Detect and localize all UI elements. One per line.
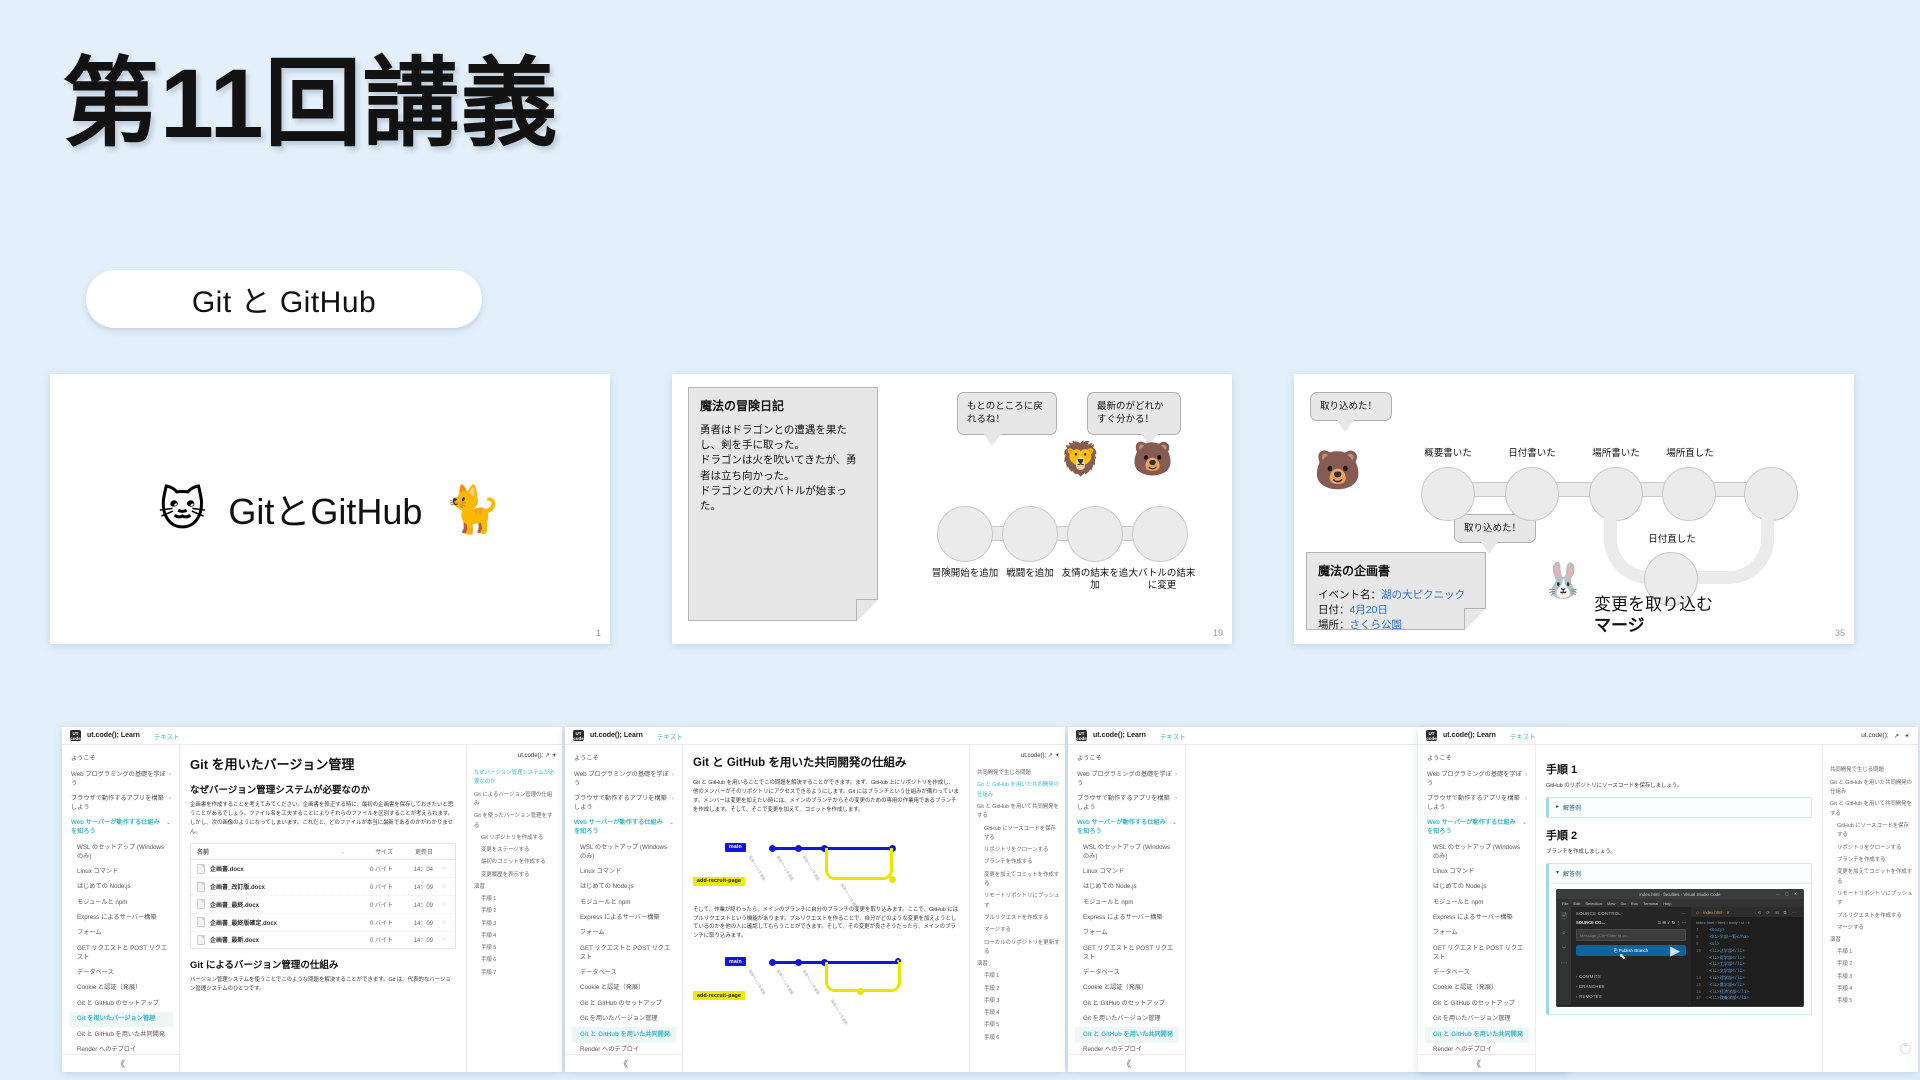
toc-item-16[interactable]: 手順 5: [977, 1020, 1060, 1032]
toc-item-13[interactable]: 手順 3: [1830, 971, 1913, 983]
breadcrumb[interactable]: index.html › html › body › ul › li: [1691, 917, 1803, 927]
chevron-down-icon[interactable]: ⌄: [1172, 819, 1177, 837]
note-title: 魔法の冒険日記: [700, 397, 866, 414]
sidebar-item-13[interactable]: Git と GitHub のセットアップ: [1425, 997, 1529, 1012]
collapse-sidebar-button[interactable]: 《: [62, 1054, 179, 1070]
lion-icon: 🦁: [1060, 442, 1101, 475]
cell-date: 14：09: [399, 918, 433, 927]
brand-name[interactable]: ut.code(); Learn: [87, 732, 140, 739]
theme-toggle-icon[interactable]: ☀: [1055, 753, 1060, 759]
menu-item-terminal[interactable]: Terminal: [1643, 901, 1658, 906]
sidebar-item-9[interactable]: フォーム: [1075, 926, 1179, 941]
sidebar-item-12[interactable]: Cookie と認証（発展）: [1425, 981, 1529, 996]
sidebar-item-label: Cookie と認証（発展）: [580, 984, 644, 993]
table-row[interactable]: 企画書_最終.docx0 バイト14：09☆: [191, 896, 455, 914]
code-line-5: <li>工学部</li>: [1696, 962, 1798, 969]
sidebar-item-9[interactable]: フォーム: [1425, 926, 1529, 941]
line-number: 14: [1696, 976, 1707, 983]
sidebar-item-label: Linux コマンド: [580, 868, 621, 877]
sidebar-item-6[interactable]: はじめての Node.js: [1075, 880, 1179, 895]
column-header-size[interactable]: サイズ: [351, 847, 393, 856]
sidebar-item-1[interactable]: Web プログラミングの基礎を学ぼう›: [1075, 767, 1179, 791]
search-icon[interactable]: ⌕: [1562, 930, 1566, 938]
sidebar-item-label: Git と GitHub を用いた共同開発: [77, 1031, 165, 1040]
commit-node-4: [1132, 506, 1188, 562]
sidebar-item-label: ブラウザで動作するアプリを構築しよう: [71, 795, 166, 813]
sidebar-item-6[interactable]: はじめての Node.js: [1425, 880, 1529, 895]
toc-item-2[interactable]: Git と GitHub を用いて共同開発をする: [1830, 799, 1913, 821]
toc-item-1[interactable]: Git と GitHub を用いた共同開発の仕組み: [1830, 777, 1913, 799]
page-title: 第11回講義: [62, 52, 559, 157]
paragraph: バージョン管理システムを使うことでこのような問題を解決することができます。Git…: [190, 976, 456, 994]
table-row[interactable]: 企画書_最終版確定.docx0 バイト14：09☆: [191, 914, 455, 932]
commit-node-2: [1505, 467, 1559, 521]
sidebar-item-8[interactable]: Express によるサーバー構築: [572, 911, 676, 926]
sidebar-item-5[interactable]: Linux コマンド: [1425, 865, 1529, 880]
code-line-0: 7 <body>: [1696, 928, 1798, 935]
sidebar-item-label: モジュールと npm: [1433, 899, 1483, 908]
vscode-screenshot: index.html - faculties - Visual Studio C…: [1556, 889, 1804, 1007]
sidebar-nav[interactable]: ようこそWeb プログラミングの基礎を学ぼう›ブラウザで動作するアプリを構築しよ…: [565, 745, 683, 1072]
toc-item-8[interactable]: 手順 1: [474, 894, 557, 906]
menu-item-file[interactable]: File: [1562, 901, 1568, 906]
slide1-content: 🐱 GitとGitHub 🐈: [50, 374, 610, 644]
toc-item-7[interactable]: リモートリポジトリにプッシュす: [1830, 888, 1913, 910]
activity-bar[interactable]: 🗎 ⌕ ⑂ ⋯: [1557, 907, 1571, 1005]
more-icon[interactable]: ⋯: [1681, 911, 1686, 916]
toc-item-12[interactable]: 手順 1: [977, 971, 1060, 983]
toc-item-1[interactable]: Git によるバージョン管理の仕組み: [474, 789, 557, 811]
toc-item-14[interactable]: 手順 3: [977, 996, 1060, 1008]
cat-tabby-icon: 🐱: [158, 486, 206, 532]
toc-item-2[interactable]: Git を使ったバージョン管理をする: [474, 811, 557, 833]
sidebar-item-3[interactable]: Web サーバーが動作する仕組みを知ろう⌄: [572, 816, 676, 840]
sidebar-item-4[interactable]: WSL のセットアップ (Windows のみ): [69, 840, 173, 864]
slide1-title: GitとGitHub: [228, 483, 422, 535]
code-line-3: 10 <li>法学部</li>: [1696, 949, 1798, 956]
toc-item-10[interactable]: ローカルのリポジトリを更新する: [977, 937, 1060, 959]
brand-label: ut.code();: [518, 753, 543, 759]
collapse-sidebar-button[interactable]: 《: [1068, 1054, 1185, 1070]
sidebar-item-10[interactable]: GET リクエストと POST リクエスト: [572, 942, 676, 966]
chevron-down-icon[interactable]: ⌄: [669, 819, 674, 837]
note-field-value: さくら公園: [1350, 619, 1403, 631]
sidebar-item-4[interactable]: WSL のセットアップ (Windows のみ): [572, 840, 676, 864]
utcode-logo-icon: UT code: [1076, 730, 1087, 741]
sidebar-item-label: モジュールと npm: [1083, 899, 1133, 908]
table-row[interactable]: 企画書_改訂版.docx0 バイト14：09☆: [191, 878, 455, 896]
chevron-right-icon[interactable]: ›: [169, 795, 171, 813]
toc-item-5[interactable]: ブランチを作成する: [1830, 855, 1913, 867]
collapse-sidebar-button[interactable]: 《: [565, 1054, 682, 1070]
toc-item-0[interactable]: なぜバージョン管理システムが必要なのか: [474, 768, 557, 790]
toc-item-17[interactable]: 手順 6: [977, 1032, 1060, 1044]
sidebar-item-14[interactable]: Git を用いたバージョン管理: [69, 1012, 173, 1027]
commit-dot: [769, 845, 776, 852]
sidebar-item-1[interactable]: Web プログラミングの基礎を学ぼう›: [1425, 767, 1529, 791]
sidebar-item-10[interactable]: GET リクエストと POST リクエスト: [69, 942, 173, 966]
sidebar-item-10[interactable]: GET リクエストと POST リクエスト: [1425, 942, 1529, 966]
toc-item-1[interactable]: Git と GitHub を用いた共同開発の仕組み: [977, 780, 1060, 802]
external-link-icon[interactable]: ↗: [1048, 753, 1053, 759]
paragraph: Git と GitHub を用いることでこの問題を解決することができます。まず、…: [693, 779, 959, 815]
main-content: Git を用いたバージョン管理 なぜバージョン管理システムが必要なのか 企画書を…: [180, 745, 466, 1072]
close-icon[interactable]: ✕: [1726, 910, 1730, 915]
sidebar-item-8[interactable]: Express によるサーバー構築: [1075, 911, 1179, 926]
toc-item-14[interactable]: 手順 7: [474, 967, 557, 979]
menu-item-selection[interactable]: Selection: [1585, 901, 1601, 906]
sidebar-item-12[interactable]: Cookie と認証（発展）: [69, 981, 173, 996]
menu-item-run[interactable]: Run: [1631, 901, 1638, 906]
sidebar-item-12[interactable]: Cookie と認証（発展）: [572, 981, 676, 996]
cell-name: 企画書_最終.docx: [197, 899, 345, 909]
scm-tree[interactable]: › COMMITS› BRANCHES› REMOTES: [1576, 972, 1686, 1001]
toc-item-0[interactable]: 共同開発で生じる問題: [1830, 765, 1913, 777]
menu-item-view[interactable]: View: [1607, 901, 1616, 906]
commit-annotation: 採用ページを追加: [775, 855, 794, 882]
scm-tree-item-remotes[interactable]: › REMOTES: [1576, 992, 1686, 1002]
note-field-value: 湖の大ピクニック: [1381, 589, 1465, 601]
toc-item-13[interactable]: 手順 2: [977, 983, 1060, 995]
sidebar-item-label: Git と GitHub を用いた共同開発: [580, 1031, 670, 1040]
toc-item-7[interactable]: リモートリポジトリにプッシュす: [977, 891, 1060, 913]
speech-bubble-lion: もとのところに戻れるね！: [957, 392, 1057, 435]
step2-text: ブランチを作成しましょう。: [1546, 848, 1812, 857]
line-number: 7: [1696, 928, 1707, 935]
sidebar-nav[interactable]: ようこそWeb プログラミングの基礎を学ぼう›ブラウザで動作するアプリを構築しよ…: [62, 745, 180, 1072]
bear-icon: 🐻: [1314, 452, 1361, 490]
sidebar-item-label: Web プログラミングの基礎を学ぼう: [71, 771, 166, 789]
sidebar-item-11[interactable]: データベース: [1425, 966, 1529, 981]
sidebar-item-6[interactable]: はじめての Node.js: [69, 880, 173, 895]
sidebar-item-9[interactable]: フォーム: [572, 926, 676, 941]
step1-text: GitHub のリポジトリにソースコードを保存しましょう。: [1546, 782, 1812, 791]
sidebar-item-11[interactable]: データベース: [69, 966, 173, 981]
sidebar-item-label: GET リクエストと POST リクエスト: [580, 945, 674, 963]
code-text: <li>文学部</li>: [1707, 970, 1745, 974]
accordion-header[interactable]: ▸ 解答例: [1549, 798, 1811, 817]
nav-link-text[interactable]: テキスト: [1160, 731, 1186, 741]
sidebar-item-11[interactable]: データベース: [572, 966, 676, 981]
commit-message-input[interactable]: Message (Ctrl+Enter to co...: [1576, 929, 1686, 941]
git-graph-diagram-1: main add-recruit-page 採用ページを追加 採用ページを追加 …: [693, 821, 959, 899]
toc-item-8[interactable]: プルリクエストを作成する: [977, 913, 1060, 925]
table-of-contents[interactable]: ut.code(); ↗ ☀ 共同開発で生じる問題Git と GitHub を用…: [969, 745, 1065, 1072]
scm-tree-item-branches[interactable]: › BRANCHES: [1576, 982, 1686, 992]
commit-node-1: [1421, 467, 1475, 521]
source-control-icon[interactable]: ⑂: [1562, 945, 1566, 952]
bubble-text: 最新のがどれかすぐ分かる！: [1097, 401, 1164, 425]
accordion-answer-1[interactable]: ▸ 解答例: [1546, 797, 1812, 818]
sidebar-item-label: フォーム: [1433, 929, 1458, 938]
chevron-right-icon[interactable]: ›: [1525, 771, 1527, 789]
sidebar-item-3[interactable]: Web サーバーが動作する仕組みを知ろう⌄: [1425, 816, 1529, 840]
sidebar-item-7[interactable]: モジュールと npm: [1425, 895, 1529, 910]
sidebar-item-4[interactable]: WSL のセットアップ (Windows のみ): [1425, 840, 1529, 864]
publish-icon: ⎘: [1614, 948, 1618, 953]
toc-item-12[interactable]: 手順 5: [474, 943, 557, 955]
cell-date: 14：09: [399, 900, 433, 909]
sidebar-item-13[interactable]: Git と GitHub のセットアップ: [572, 997, 676, 1012]
sidebar-item-7[interactable]: モジュールと npm: [572, 895, 676, 910]
theme-toggle-icon[interactable]: ☀: [552, 753, 557, 759]
scm-subheader: SOURCE CO... ⎋ ☰ ✓ ↻ ⋮ ⋯: [1576, 920, 1686, 925]
brand-label: ut.code();: [1861, 732, 1888, 739]
sidebar-item-12[interactable]: Cookie と認証（発展）: [1075, 981, 1179, 996]
nav-link-text[interactable]: テキスト: [657, 731, 683, 741]
sidebar-item-8[interactable]: Express によるサーバー構築: [1425, 911, 1529, 926]
page-fold-corner: [1464, 608, 1486, 630]
sidebar-item-2[interactable]: ブラウザで動作するアプリを構築しよう›: [69, 792, 173, 816]
code-line-10: 17 <li>教養学部</li>: [1696, 996, 1798, 1003]
editor-actions[interactable]: ⟲ ⟳ ⊞ ⧉ ⋯: [1758, 910, 1798, 915]
merge-caption-line2: マージ: [1594, 615, 1713, 636]
sidebar-item-label: Git を用いたバージョン管理: [1083, 1015, 1161, 1024]
feature-commit-dot: [857, 988, 864, 995]
sidebar-item-0[interactable]: ようこそ: [572, 752, 676, 767]
sidebar-item-label: データベース: [580, 969, 617, 978]
file-table: 名前 ⌄ サイズ 更新日 企画書.docx0 バイト14：04☆企画書_改訂版.…: [190, 843, 456, 950]
sidebar-item-0[interactable]: ようこそ: [69, 752, 173, 767]
sidebar-item-13[interactable]: Git と GitHub のセットアップ: [69, 997, 173, 1012]
toc-item-10[interactable]: 手順 3: [474, 918, 557, 930]
sidebar-item-7[interactable]: モジュールと npm: [1075, 895, 1179, 910]
sidebar-item-2[interactable]: ブラウザで動作するアプリを構築しよう›: [572, 792, 676, 816]
theme-toggle-icon[interactable]: ☀: [1904, 732, 1910, 740]
toc-item-2[interactable]: Git と GitHub を用いて共同開発をする: [977, 801, 1060, 823]
sidebar-item-1[interactable]: Web プログラミングの基礎を学ぼう›: [572, 767, 676, 791]
toc-item-8[interactable]: プルリクエストを作成する: [1830, 910, 1913, 922]
sidebar-item-label: ようこそ: [71, 755, 96, 764]
sidebar-item-label: Linux コマンド: [1083, 868, 1124, 877]
toc-item-12[interactable]: 手順 2: [1830, 959, 1913, 971]
slide-thumbnail-19[interactable]: 魔法の冒険日記 勇者はドラゴンとの遭遇を果たし、剣を手に取った。 ドラゴンは火を…: [672, 374, 1232, 644]
chevron-right-icon[interactable]: ›: [1525, 795, 1527, 813]
sidebar-item-label: Linux コマンド: [1433, 868, 1474, 877]
code-text: <li>農学部</li>: [1707, 984, 1745, 988]
sidebar-nav[interactable]: ようこそWeb プログラミングの基礎を学ぼう›ブラウザで動作するアプリを構築しよ…: [1418, 745, 1536, 1072]
sidebar-item-label: データベース: [1083, 969, 1120, 978]
chevron-down-icon[interactable]: ⌄: [166, 819, 171, 837]
sidebar-item-0[interactable]: ようこそ: [1425, 752, 1529, 767]
sort-chevron-icon[interactable]: ⌄: [341, 849, 345, 855]
sidebar-item-15[interactable]: Git と GitHub を用いた共同開発: [1075, 1027, 1179, 1042]
toc-item-7[interactable]: 演習: [474, 882, 557, 894]
browser-window-2[interactable]: UT code ut.code(); Learn テキスト ようこそWeb プロ…: [565, 727, 1065, 1072]
sidebar-item-label: Express によるサーバー構築: [77, 914, 157, 923]
sidebar-item-2[interactable]: ブラウザで動作するアプリを構築しよう›: [1425, 792, 1529, 816]
scm-action-icons[interactable]: ⎋ ☰ ✓ ↻ ⋮ ⋯: [1658, 920, 1686, 925]
accordion-body: index.html - faculties - Visual Studio C…: [1549, 884, 1811, 1014]
toc-item-4[interactable]: リポジトリをクローンする: [977, 845, 1060, 857]
line-number: 17: [1696, 996, 1707, 1003]
sidebar-item-10[interactable]: GET リクエストと POST リクエスト: [1075, 942, 1179, 966]
external-link-icon[interactable]: ↗: [545, 753, 550, 759]
scroll-to-top-button[interactable]: ⌃: [1900, 1043, 1911, 1054]
chevron-right-icon[interactable]: ›: [1175, 771, 1177, 789]
window-body: ようこそWeb プログラミングの基礎を学ぼう›ブラウザで動作するアプリを構築しよ…: [565, 745, 1065, 1072]
sidebar-item-label: Cookie と認証（発展）: [1083, 984, 1147, 993]
code-text: <li>教養学部</li>: [1707, 997, 1749, 1001]
sidebar-item-13[interactable]: Git と GitHub のセットアップ: [1075, 997, 1179, 1012]
sidebar-item-5[interactable]: Linux コマンド: [572, 865, 676, 880]
commit-label-4: 大バトルの結末に変更: [1124, 568, 1200, 593]
star-icon[interactable]: ☆: [439, 901, 449, 908]
sidebar-item-5[interactable]: Linux コマンド: [1075, 865, 1179, 880]
cell-name: 企画書_最新.docx: [197, 935, 345, 945]
sidebar-item-0[interactable]: ようこそ: [1075, 752, 1179, 767]
toc-topbar: ut.code(); ↗ ☀: [977, 751, 1060, 762]
code-text: <h1>学部一覧</h1>: [1707, 936, 1749, 940]
toc-item-5[interactable]: 最初のコミットを作成する: [474, 857, 557, 869]
code-editor[interactable]: 7 <body>8 <h1>学部一覧</h1>9 <ul>10 <li>法学部<…: [1691, 927, 1803, 1004]
sidebar-item-6[interactable]: はじめての Node.js: [572, 880, 676, 895]
column-header-date[interactable]: 更新日: [399, 847, 433, 856]
toc-item-5[interactable]: ブランチを作成する: [977, 857, 1060, 869]
nav-link-text[interactable]: テキスト: [154, 731, 180, 741]
chevron-down-icon[interactable]: ⌄: [1522, 819, 1527, 837]
sidebar-item-label: Express によるサーバー構築: [1433, 914, 1513, 923]
main-content: Git と GitHub を用いた共同開発の仕組み Git と GitHub を…: [683, 745, 969, 1072]
toc-item-6[interactable]: 変更を加えてコミットを作成する: [977, 869, 1060, 891]
sidebar-item-15[interactable]: Git と GitHub を用いた共同開発: [572, 1027, 676, 1042]
tab-label[interactable]: index.html: [1703, 910, 1722, 915]
toc-item-6[interactable]: 変更を加えてコミットを作成する: [1830, 867, 1913, 889]
scm-tree-item-commits[interactable]: › COMMITS: [1576, 972, 1686, 982]
toc-item-3[interactable]: Git リポジトリを作成する: [474, 833, 557, 845]
sidebar-item-15[interactable]: Git と GitHub を用いた共同開発: [69, 1027, 173, 1042]
sidebar-item-label: WSL のセットアップ (Windows のみ): [580, 844, 674, 862]
commit-annotation: 採用ページを追加: [775, 969, 794, 996]
toc-item-13[interactable]: 手順 6: [474, 955, 557, 967]
commit-annotation: 採用ページを追加: [747, 855, 766, 882]
toc-item-3[interactable]: GitHub にソースコードを保存する: [1830, 821, 1913, 843]
browser-window-4[interactable]: UT code ut.code(); Learn テキスト ut.code();…: [1418, 727, 1918, 1072]
browser-window-1[interactable]: UT code ut.code(); Learn テキスト ようこそWeb プロ…: [62, 727, 562, 1072]
star-icon[interactable]: ☆: [439, 936, 449, 943]
toc-item-9[interactable]: 手順 2: [474, 906, 557, 918]
toc-item-4[interactable]: リポジトリをクローンする: [1830, 842, 1913, 854]
brand-name[interactable]: ut.code(); Learn: [1443, 732, 1496, 739]
toc-item-0[interactable]: 共同開発で生じる問題: [977, 768, 1060, 780]
toc-item-11[interactable]: 手順 4: [474, 930, 557, 942]
star-icon[interactable]: ☆: [439, 865, 449, 872]
sidebar-item-15[interactable]: Git と GitHub を用いた共同開発: [1425, 1027, 1529, 1042]
sidebar-item-11[interactable]: データベース: [1075, 966, 1179, 981]
sidebar-item-label: Web プログラミングの基礎を学ぼう: [1077, 771, 1172, 789]
sidebar-item-3[interactable]: Web サーバーが動作する仕組みを知ろう⌄: [1075, 816, 1179, 840]
table-row[interactable]: 企画書_最新.docx0 バイト14：09☆: [191, 932, 455, 949]
toc-item-9[interactable]: マージする: [977, 925, 1060, 937]
brand-name[interactable]: ut.code(); Learn: [590, 732, 643, 739]
brand-name[interactable]: ut.code(); Learn: [1093, 732, 1146, 739]
window-topbar: UT code ut.code(); Learn テキスト: [62, 727, 562, 745]
sidebar-item-label: WSL のセットアップ (Windows のみ): [77, 844, 171, 862]
sidebar-item-label: Git と GitHub のセットアップ: [1433, 1000, 1515, 1009]
page-heading: Git と GitHub を用いた共同開発の仕組み: [693, 754, 959, 770]
scm-title: SOURCE CONTROL: [1576, 911, 1621, 916]
sidebar-item-7[interactable]: モジュールと npm: [69, 895, 173, 910]
scm-subtitle: SOURCE CO...: [1576, 920, 1605, 925]
sidebar-item-5[interactable]: Linux コマンド: [69, 865, 173, 880]
sidebar-item-14[interactable]: Git を用いたバージョン管理: [1425, 1012, 1529, 1027]
utcode-logo-icon: UT code: [573, 730, 584, 741]
line-number: 15: [1696, 983, 1707, 990]
more-icon[interactable]: ⋯: [1561, 959, 1568, 967]
toc-item-10[interactable]: 演習: [1830, 935, 1913, 947]
collapse-sidebar-button[interactable]: 《: [1418, 1054, 1535, 1070]
table-of-contents[interactable]: ut.code(); ↗ ☀ なぜバージョン管理システムが必要なのかGit によ…: [466, 745, 562, 1072]
file-name: 企画書_最終版確定.docx: [210, 918, 277, 927]
chevron-right-icon[interactable]: ›: [169, 771, 171, 789]
sidebar-nav[interactable]: ようこそWeb プログラミングの基礎を学ぼう›ブラウザで動作するアプリを構築しよ…: [1068, 745, 1186, 1072]
play-icon[interactable]: ▶: [1670, 943, 1680, 959]
slide-thumbnail-1[interactable]: 🐱 GitとGitHub 🐈 1: [50, 374, 610, 644]
toc-item-4[interactable]: 変更をステージする: [474, 845, 557, 857]
sidebar-item-2[interactable]: ブラウザで動作するアプリを構築しよう›: [1075, 792, 1179, 816]
chevron-right-icon[interactable]: ›: [1175, 795, 1177, 813]
toc-item-9[interactable]: マージする: [1830, 922, 1913, 934]
editor-tabbar[interactable]: ◇ index.html ✕ ⟲ ⟳ ⊞ ⧉ ⋯: [1691, 907, 1803, 917]
sidebar-item-label: モジュールと npm: [580, 899, 630, 908]
external-link-icon[interactable]: ↗: [1894, 732, 1899, 740]
column-header-name[interactable]: 名前: [197, 847, 335, 856]
vscode-menubar[interactable]: FileEditSelectionViewGoRunTerminalHelp: [1557, 899, 1803, 908]
toc-item-14[interactable]: 手順 4: [1830, 984, 1913, 996]
toc-item-3[interactable]: GitHub にソースコードを保存する: [977, 823, 1060, 845]
sidebar-item-14[interactable]: Git を用いたバージョン管理: [1075, 1012, 1179, 1027]
sidebar-item-3[interactable]: Web サーバーが動作する仕組みを知ろう⌄: [69, 816, 173, 840]
rabbit-icon: 🐰: [1542, 564, 1584, 598]
toc-item-6[interactable]: 変更履歴を表示する: [474, 869, 557, 881]
sidebar-item-label: データベース: [77, 969, 114, 978]
sidebar-item-label: Git と GitHub のセットアップ: [1083, 1000, 1165, 1009]
paragraph: そして、作業が終わったら、メインのブランチに自分のブランチの変更を取り込みます。…: [693, 906, 959, 942]
sidebar-item-1[interactable]: Web プログラミングの基礎を学ぼう›: [69, 767, 173, 791]
toc-item-15[interactable]: 手順 4: [977, 1008, 1060, 1020]
branch-label-feature: add-recruit-page: [693, 877, 745, 886]
accordion-header[interactable]: ▾ 解答例: [1549, 864, 1811, 884]
table-row[interactable]: 企画書.docx0 バイト14：04☆: [191, 860, 455, 878]
star-icon[interactable]: ☆: [439, 919, 449, 926]
menu-item-edit[interactable]: Edit: [1573, 901, 1580, 906]
accordion-answer-2[interactable]: ▾ 解答例 index.html - faculties - Visual St…: [1546, 863, 1812, 1015]
sidebar-item-8[interactable]: Express によるサーバー構築: [69, 911, 173, 926]
note-field-label: 日付：: [1318, 604, 1350, 616]
chevron-right-icon[interactable]: ›: [672, 795, 674, 813]
window-body: ようこそWeb プログラミングの基礎を学ぼう›ブラウザで動作するアプリを構築しよ…: [62, 745, 562, 1072]
slide-thumbnail-35[interactable]: 取り込めた！ 🐻 取り込めた！ 🐰 概要書いた 日付書いた 場所書いた 場所直し…: [1294, 374, 1854, 644]
toc-item-11[interactable]: 演習: [977, 959, 1060, 971]
page-heading: Git を用いたバージョン管理: [190, 754, 456, 773]
chevron-right-icon[interactable]: ›: [672, 771, 674, 789]
star-icon[interactable]: ☆: [439, 883, 449, 890]
sidebar-item-label: Web プログラミングの基礎を学ぼう: [1427, 771, 1522, 789]
nav-link-text[interactable]: テキスト: [1510, 731, 1536, 741]
menu-item-go[interactable]: Go: [1620, 901, 1625, 906]
toc-item-11[interactable]: 手順 1: [1830, 947, 1913, 959]
sidebar-item-9[interactable]: フォーム: [69, 926, 173, 941]
toc-item-15[interactable]: 手順 5: [1830, 996, 1913, 1008]
files-icon[interactable]: 🗎: [1561, 912, 1567, 923]
window-controls[interactable]: — ◻ ✕: [1776, 891, 1799, 896]
sidebar-item-14[interactable]: Git を用いたバージョン管理: [572, 1012, 676, 1027]
adventure-diary-note: 魔法の冒険日記 勇者はドラゴンとの遭遇を果たし、剣を手に取った。 ドラゴンは火を…: [688, 387, 878, 621]
merge-caption: 変更を取り込む マージ: [1594, 594, 1713, 637]
menu-item-help[interactable]: Help: [1663, 901, 1671, 906]
sidebar-item-4[interactable]: WSL のセットアップ (Windows のみ): [1075, 840, 1179, 864]
table-of-contents[interactable]: 共同開発で生じる問題Git と GitHub を用いた共同開発の仕組みGit と…: [1822, 745, 1918, 1072]
